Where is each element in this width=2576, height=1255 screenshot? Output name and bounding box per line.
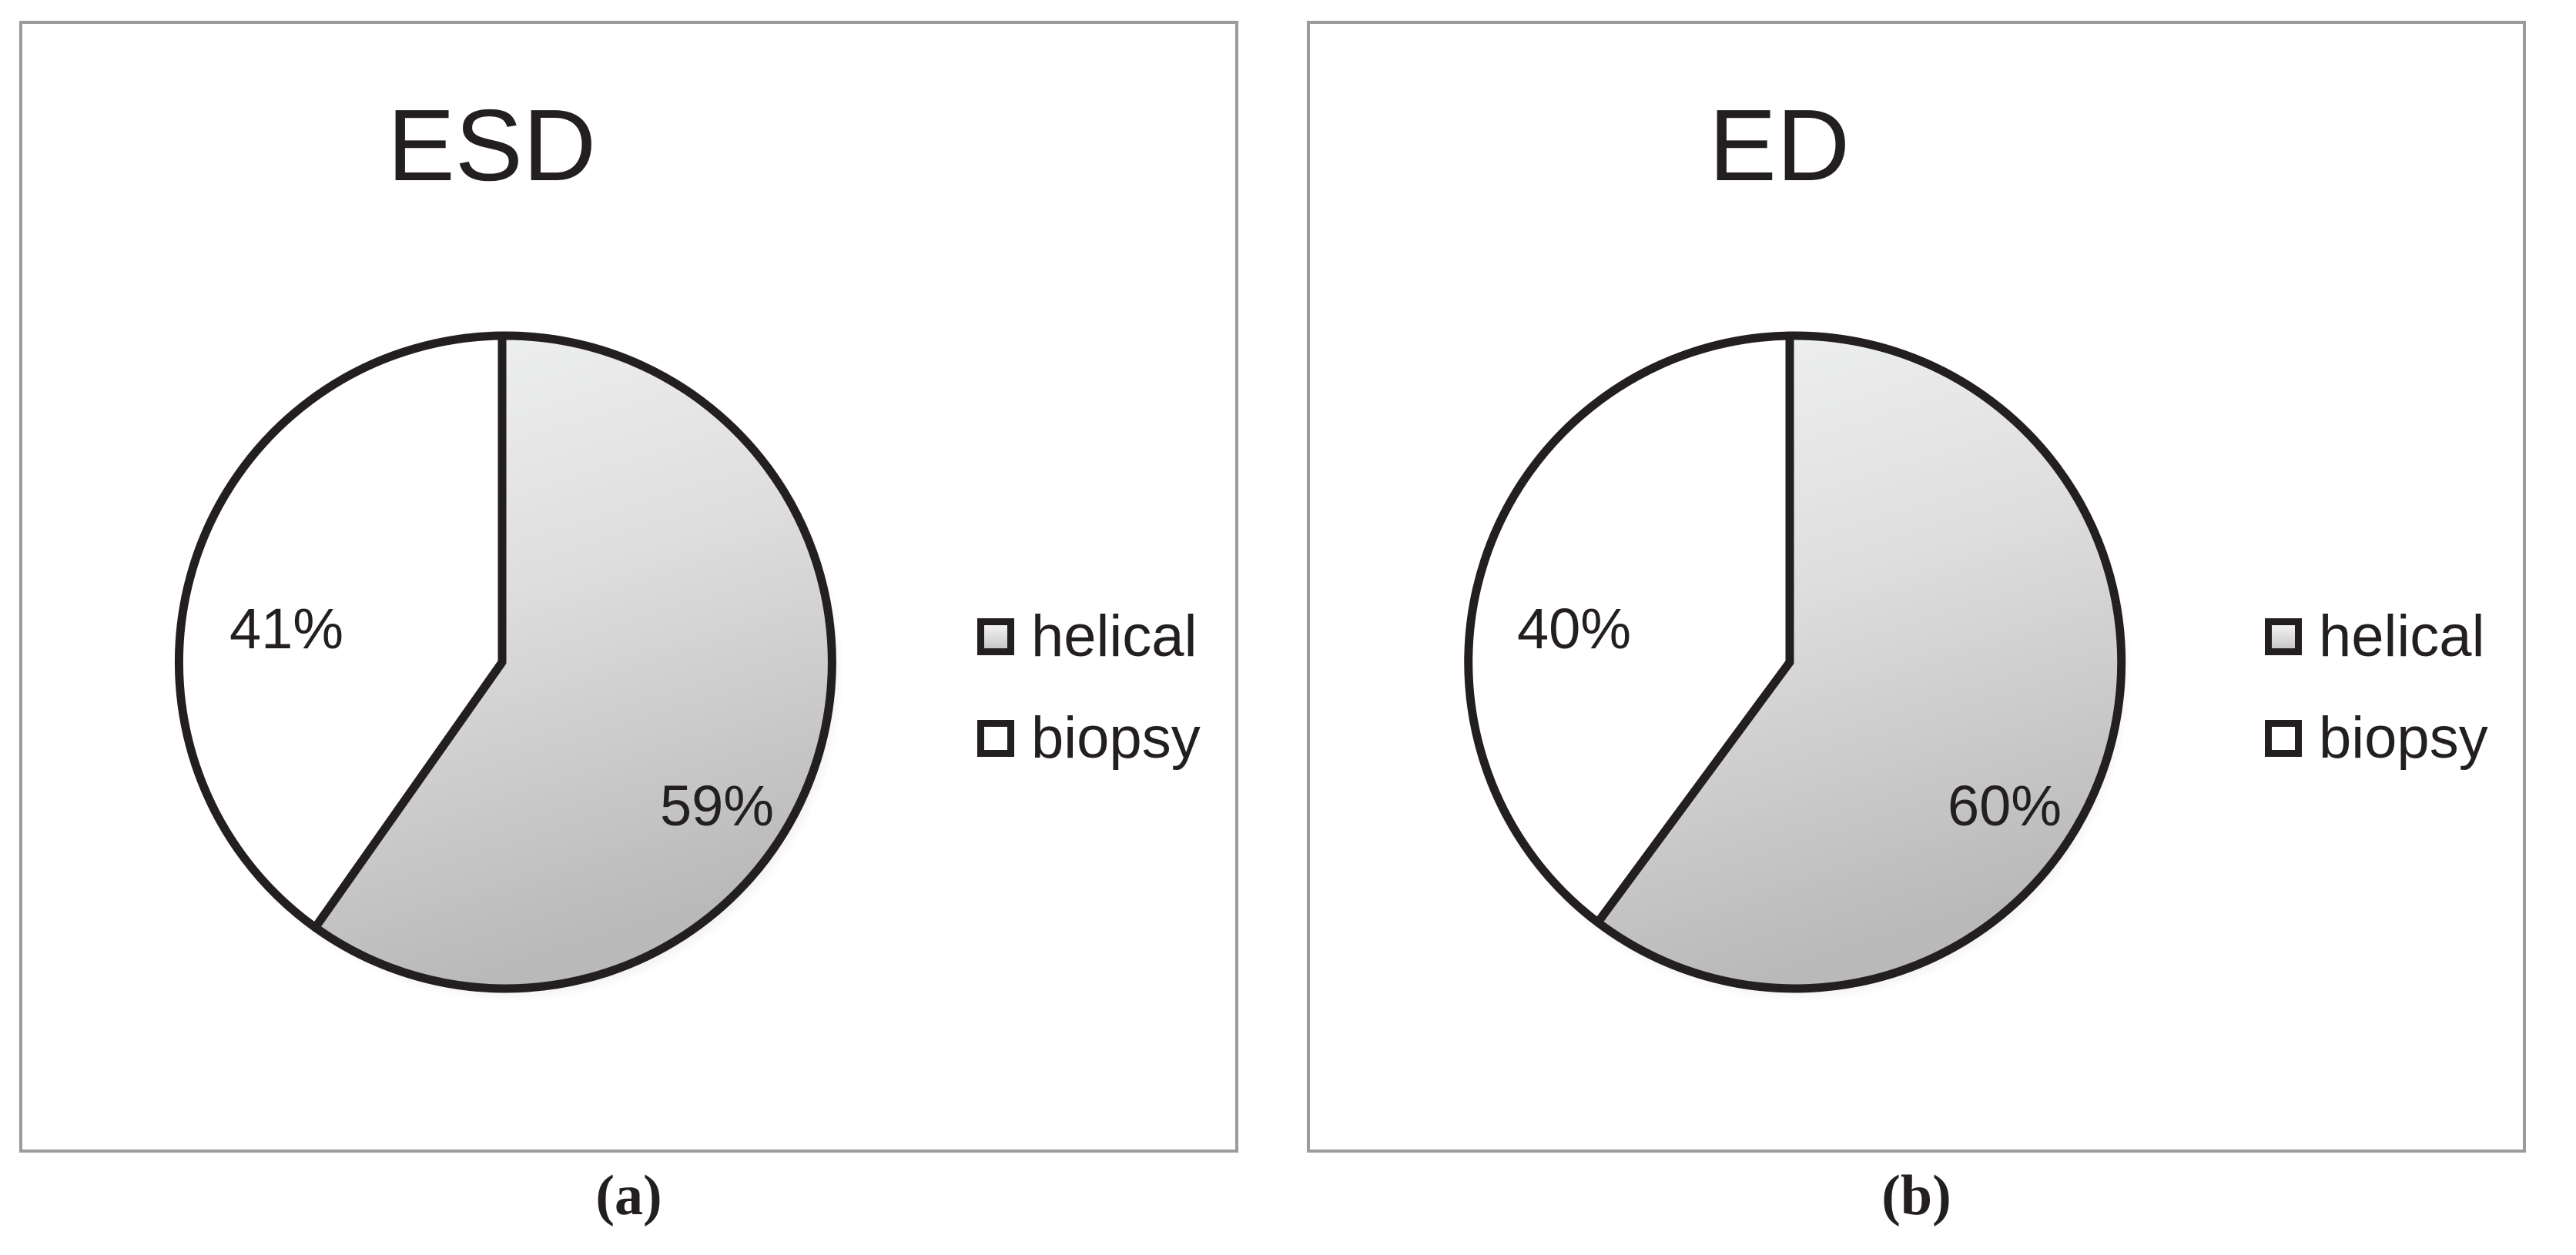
legend-label-biopsy: biopsy	[2319, 709, 2488, 768]
legend-item-helical[interactable]: helical	[2265, 600, 2519, 674]
panel-b-caption: (b)	[1307, 1167, 2526, 1224]
panel-b-legend: helical biopsy	[2265, 600, 2519, 775]
pie-chart-a-svg	[156, 316, 849, 1009]
panel-a-frame: ESD	[19, 21, 1238, 1153]
pie-label-helical: 60%	[1948, 778, 2062, 835]
pie-label-helical: 59%	[660, 778, 774, 835]
panel-b-frame: ED	[1307, 21, 2526, 1153]
panel-b: ED	[1288, 0, 2575, 1255]
panel-a-pie: 41% 59%	[156, 316, 849, 1009]
legend-item-helical[interactable]: helical	[977, 600, 1231, 674]
helical-swatch-icon	[2265, 618, 2302, 655]
legend-label-helical: helical	[1031, 607, 1197, 666]
pie-chart-figure: ESD	[0, 0, 2576, 1255]
pie-chart-b-svg	[1443, 316, 2136, 1009]
panel-a-caption: (a)	[19, 1167, 1238, 1224]
legend-label-helical: helical	[2319, 607, 2484, 666]
panel-a: ESD	[0, 0, 1288, 1255]
legend-item-biopsy[interactable]: biopsy	[977, 701, 1231, 775]
pie-label-biopsy: 40%	[1517, 601, 1631, 658]
biopsy-swatch-icon	[2265, 720, 2302, 757]
pie-label-biopsy: 41%	[229, 601, 343, 658]
panel-b-title: ED	[1310, 95, 2523, 196]
legend-label-biopsy: biopsy	[1031, 709, 1201, 768]
panel-b-pie: 40% 60%	[1443, 316, 2136, 1009]
panel-a-legend: helical biopsy	[977, 600, 1231, 775]
biopsy-swatch-icon	[977, 720, 1014, 757]
legend-item-biopsy[interactable]: biopsy	[2265, 701, 2519, 775]
panel-a-title: ESD	[22, 95, 1235, 196]
helical-swatch-icon	[977, 618, 1014, 655]
